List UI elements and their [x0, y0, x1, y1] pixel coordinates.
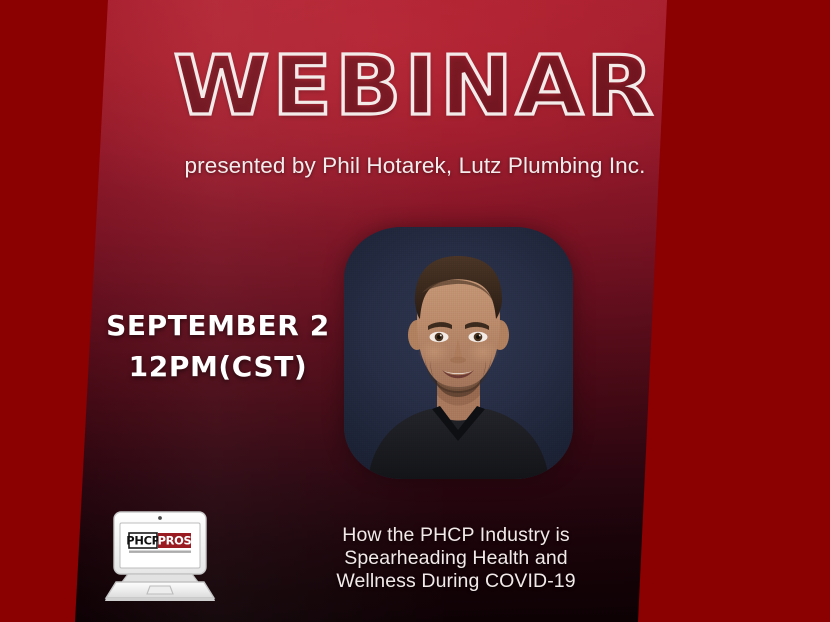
page-title: WEBINAR	[0, 46, 830, 128]
presenter-subtitle: presented by Phil Hotarek, Lutz Plumbing…	[0, 154, 830, 179]
webinar-promo-poster: WEBINAR presented by Phil Hotarek, Lutz …	[0, 0, 830, 622]
event-time: 12PM(CST)	[88, 347, 348, 388]
logo-phcp-text: PHCP	[126, 533, 159, 547]
speaker-portrait	[344, 227, 573, 479]
logo-pros-text: PROS	[158, 533, 192, 547]
laptop-icon: PHCP PROS	[98, 508, 222, 605]
phcp-pros-logo: PHCP PROS	[98, 508, 222, 605]
description-line-2: Spearheading Health and	[296, 547, 616, 570]
schedule-block: SEPTEMBER 2 12PM(CST)	[88, 306, 348, 388]
event-date: SEPTEMBER 2	[88, 306, 348, 347]
portrait-grain	[344, 227, 573, 479]
logo-tagline	[129, 551, 191, 553]
description-line-1: How the PHCP Industry is	[296, 524, 616, 547]
webinar-description: How the PHCP Industry is Spearheading He…	[296, 524, 616, 594]
description-line-3: Wellness During COVID-19	[296, 570, 616, 593]
